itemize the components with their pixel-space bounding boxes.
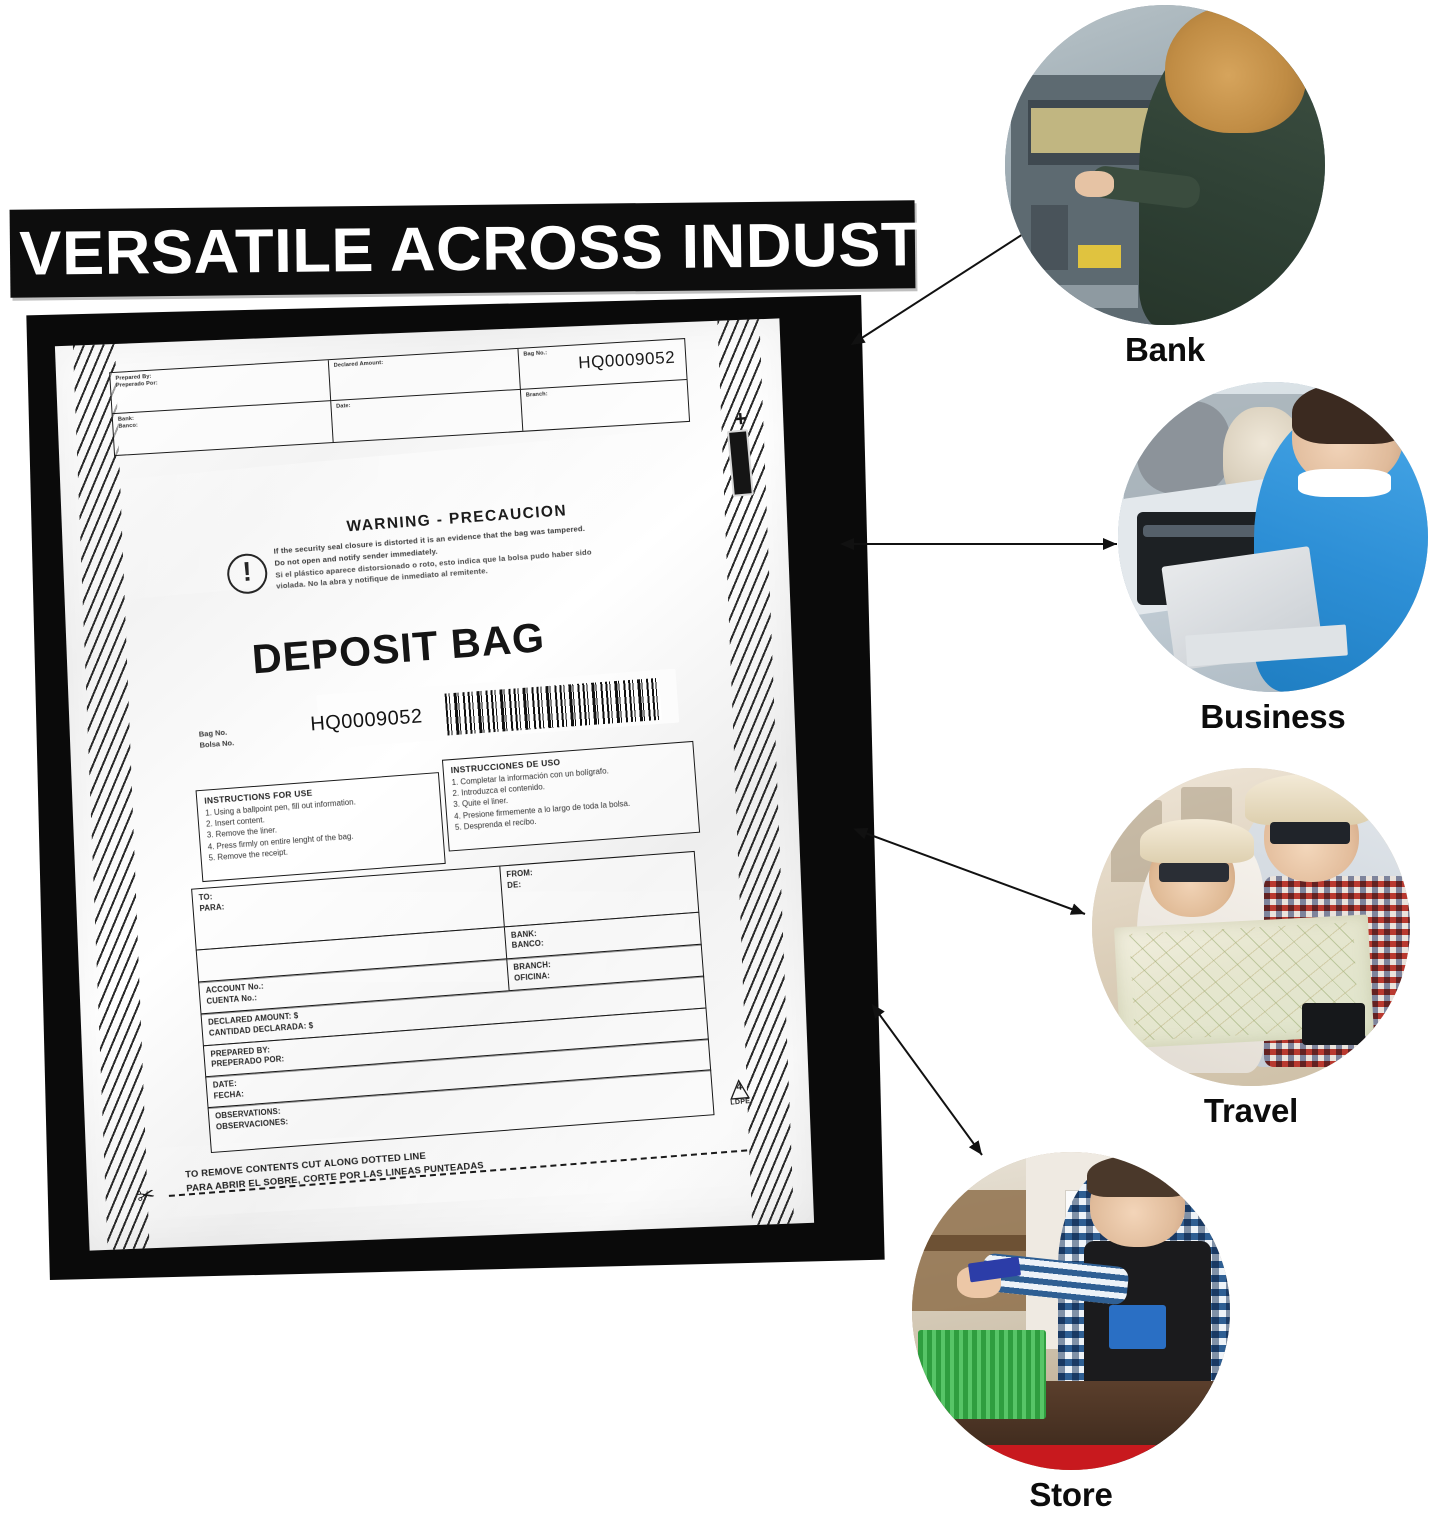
deposit-bag-product: + Prepared By: Preperado Por: Declared A…	[55, 318, 814, 1250]
travel-photo	[1092, 768, 1410, 1086]
recycle-symbol: △ 4 LDPE	[721, 1075, 757, 1108]
exclamation-icon: !	[226, 552, 269, 595]
business-photo	[1118, 382, 1428, 692]
plus-mark-icon: +	[733, 407, 748, 430]
industry-caption-business: Business	[1118, 698, 1428, 736]
warning-section: WARNING - PRECAUCION ! If the security s…	[212, 495, 662, 546]
background-person	[1137, 401, 1230, 494]
business-scene	[1118, 382, 1428, 692]
industry-card-bank: Bank	[1005, 5, 1325, 369]
bag-number-label: Bag No. Bolsa No.	[199, 727, 235, 750]
headline-banner: VERSATILE ACROSS INDUSTRIES	[10, 200, 916, 297]
instructions-spanish-box: INSTRUCCIONES DE USO 1. Completar la inf…	[442, 741, 700, 852]
seal-hatch-left	[73, 344, 150, 1250]
recycle-number: 4	[722, 1082, 757, 1094]
atm-tray	[1021, 285, 1137, 307]
stub-label: Declared Amount:	[334, 352, 513, 370]
shelf-board	[918, 1235, 1032, 1251]
female-sunglasses	[1159, 863, 1229, 882]
travel-scene	[1092, 768, 1410, 1086]
bank-scene	[1005, 5, 1325, 325]
atm-screen-glow	[1031, 108, 1147, 153]
industry-card-travel: Travel	[1092, 768, 1410, 1130]
bank-photo	[1005, 5, 1325, 325]
industry-caption-travel: Travel	[1092, 1092, 1410, 1130]
product-heading: DEPOSIT BAG	[250, 614, 546, 683]
male-sunglasses	[1270, 822, 1350, 844]
store-photo	[912, 1152, 1230, 1470]
stub-serial-number: HQ0009052	[578, 348, 676, 374]
shopping-basket	[918, 1330, 1045, 1419]
customer-hair	[1165, 5, 1306, 133]
arrow-to-business	[832, 528, 1132, 558]
industry-caption-bank: Bank	[1005, 331, 1325, 369]
stub-cell: Branch:	[521, 380, 689, 431]
bag-zipper	[1143, 525, 1261, 537]
customer-hand	[1075, 171, 1113, 197]
atm-card-slot	[1078, 245, 1121, 267]
male-straw-hat	[1245, 774, 1372, 825]
arrow-to-store	[862, 995, 1002, 1170]
recycle-triangle-icon: △ 4	[721, 1075, 757, 1101]
industry-caption-store: Store	[912, 1476, 1230, 1514]
instructions-english-box: INSTRUCTIONS FOR USE 1. Using a ballpoin…	[196, 772, 446, 882]
store-scene	[912, 1152, 1230, 1470]
card-terminal	[1109, 1305, 1166, 1350]
deposit-form-table: TO: PARA: FROM: DE: BANK: BANCO: ACCOUNT…	[191, 853, 714, 1153]
cashier-hair	[1087, 1155, 1189, 1196]
receipt-stub-table: Prepared By: Preperado Por: Declared Amo…	[109, 338, 690, 456]
arrow-to-travel	[845, 818, 1100, 928]
industry-card-business: Business	[1118, 382, 1428, 736]
businesswoman-hair	[1292, 382, 1410, 444]
shirt-collar	[1298, 469, 1391, 497]
headline-text: VERSATILE ACROSS INDUSTRIES	[1, 200, 925, 298]
industry-card-store: Store	[912, 1152, 1230, 1514]
camera	[1302, 1003, 1366, 1044]
red-counter-trim	[912, 1445, 1230, 1470]
bag-no-es: Bolsa No.	[199, 738, 234, 751]
female-straw-hat	[1140, 819, 1254, 864]
atm-keypad	[1031, 205, 1068, 270]
